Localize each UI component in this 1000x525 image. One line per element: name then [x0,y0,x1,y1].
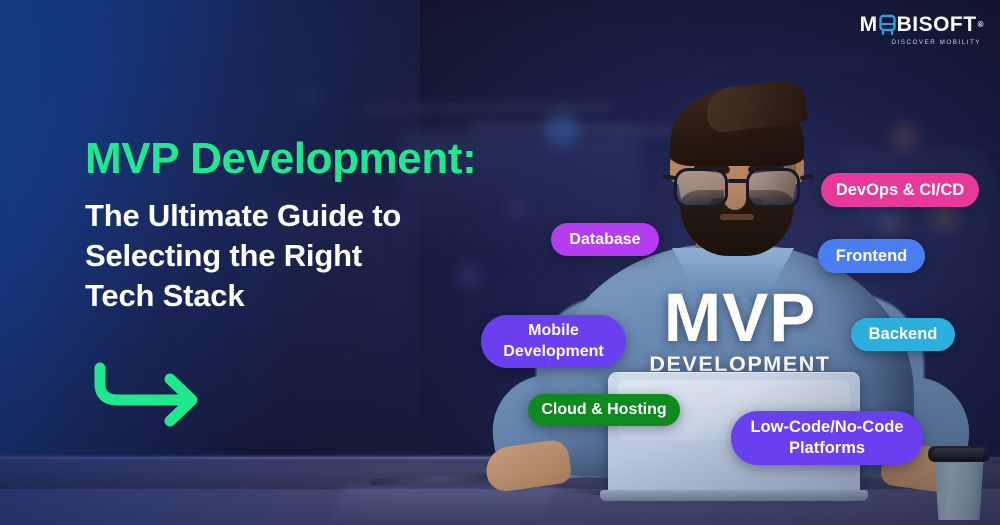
mobisoft-logo[interactable]: M BISOFT ® DISCOVER MOBILITY [856,14,984,58]
curved-right-arrow-icon [92,362,212,428]
pill-database[interactable]: Database [551,223,659,256]
page-subtitle: The Ultimate Guide to Selecting the Righ… [85,196,585,316]
subtitle-line: The Ultimate Guide to [85,196,585,236]
pill-devops-cicd[interactable]: DevOps & CI/CD [821,173,979,207]
logo-text-part1: M [860,14,878,35]
logo-wordmark: M BISOFT ® [856,14,984,35]
pill-mobile-development[interactable]: Mobile Development [481,315,626,368]
pill-cloud-hosting[interactable]: Cloud & Hosting [528,394,680,426]
pill-frontend[interactable]: Frontend [818,239,925,273]
tram-icon [879,14,896,35]
page-title: MVP Development: [85,136,585,183]
logo-tagline: DISCOVER MOBILITY [856,39,984,46]
pill-backend[interactable]: Backend [851,318,955,351]
headline-block: MVP Development: The Ultimate Guide to S… [85,136,585,316]
pill-low-code-no-code-platforms[interactable]: Low-Code/No-Code Platforms [731,411,923,465]
registered-mark: ® [978,21,984,29]
logo-text-part2: BISOFT [897,14,977,35]
subtitle-line: Selecting the Right [85,236,585,276]
mvp-development-banner: MVP DEVELOPMENT MVP Development: The Ult… [0,0,1000,525]
subtitle-line: Tech Stack [85,276,585,316]
